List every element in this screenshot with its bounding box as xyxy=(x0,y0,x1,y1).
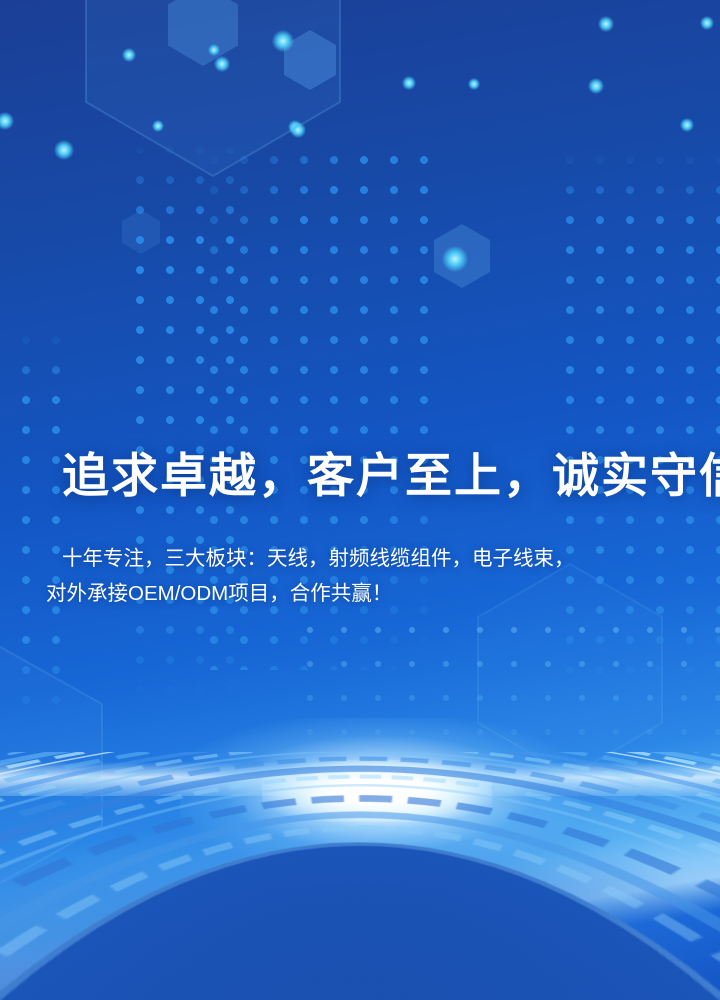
glow-particle xyxy=(272,30,294,52)
banner-subtitle-line-2: 对外承接OEM/ODM项目，合作共赢！ xyxy=(46,576,676,611)
glow-particle xyxy=(442,246,468,272)
dot-grid xyxy=(130,140,250,700)
glow-particle xyxy=(54,140,74,160)
glow-particle xyxy=(588,78,604,94)
hexagon-icon xyxy=(284,30,336,90)
glow-particle xyxy=(680,118,694,132)
banner-subtitle: 十年专注，三大板块：天线，射频线缆组件，电子线束， 对外承接OEM/ODM项目，… xyxy=(46,541,676,611)
hexagon-icon xyxy=(122,210,160,254)
hexagon-outline-icon xyxy=(78,0,348,180)
glow-particle xyxy=(122,48,136,62)
glow-particle xyxy=(152,120,164,132)
dot-grid xyxy=(0,330,78,730)
hexagon-icon xyxy=(434,224,490,288)
glow-particle xyxy=(468,78,480,90)
glow-particle xyxy=(214,56,230,72)
dot-grid xyxy=(560,150,720,710)
glow-particle xyxy=(402,76,416,90)
promo-banner: 追求卓越，客户至上，诚实守信 十年专注，三大板块：天线，射频线缆组件，电子线束，… xyxy=(0,0,720,1000)
glow-particle xyxy=(208,44,220,56)
center-glow-core xyxy=(262,760,492,822)
glow-particle xyxy=(0,112,14,130)
glow-particle xyxy=(288,120,302,134)
banner-subtitle-line-1: 十年专注，三大板块：天线，射频线缆组件，电子线束， xyxy=(46,541,676,576)
bottom-gradient-overlay xyxy=(0,860,720,1000)
glow-particle xyxy=(290,122,306,138)
glow-particle xyxy=(598,16,614,32)
banner-headline: 追求卓越，客户至上，诚实守信 xyxy=(62,446,662,506)
glow-particle xyxy=(700,16,714,30)
hexagon-icon xyxy=(168,0,238,66)
